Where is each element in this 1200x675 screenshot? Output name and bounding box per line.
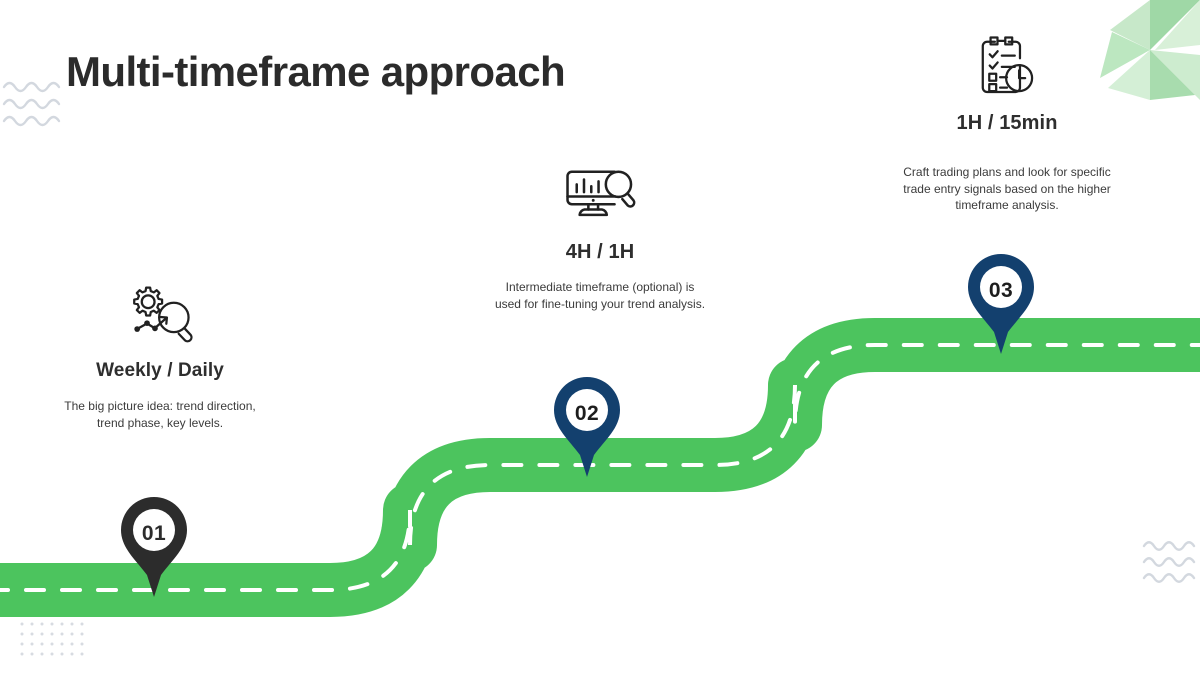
map-pin-03[interactable]: 03 bbox=[957, 251, 1045, 357]
wavy-lines-bottom-right-decor-icon bbox=[1142, 538, 1200, 586]
map-pin-icon bbox=[110, 494, 198, 600]
gear-magnifier-analytics-icon bbox=[120, 282, 200, 346]
map-pin-01[interactable]: 01 bbox=[110, 494, 198, 600]
clipboard-checklist-clock-icon bbox=[971, 34, 1043, 98]
map-pin-icon bbox=[957, 251, 1045, 357]
monitor-bar-chart-magnifier-icon bbox=[560, 163, 640, 227]
dot-grid-decor-icon bbox=[20, 622, 90, 658]
step-title-03: 1H / 15min bbox=[902, 112, 1112, 135]
step-description-01: The big picture idea: trend direction, t… bbox=[64, 398, 256, 431]
step-block-03: 1H / 15min Craft trading plans and look … bbox=[902, 34, 1112, 214]
step-description-02: Intermediate timeframe (optional) is use… bbox=[492, 279, 708, 312]
map-pin-number-03: 03 bbox=[957, 279, 1045, 303]
page-title: Multi-timeframe approach bbox=[66, 48, 565, 96]
step-block-01: Weekly / Daily The big picture idea: tre… bbox=[64, 282, 256, 431]
step-title-02: 4H / 1H bbox=[492, 241, 708, 264]
wavy-lines-top-left-decor-icon bbox=[2, 78, 64, 130]
step-title-01: Weekly / Daily bbox=[64, 360, 256, 382]
triangle-pinwheel-decor-icon bbox=[1100, 0, 1200, 100]
step-description-03: Craft trading plans and look for specifi… bbox=[902, 164, 1112, 214]
map-pin-icon bbox=[543, 374, 631, 480]
map-pin-number-02: 02 bbox=[543, 402, 631, 426]
map-pin-number-01: 01 bbox=[110, 522, 198, 546]
step-block-02: 4H / 1H Intermediate timeframe (optional… bbox=[492, 163, 708, 312]
slide-canvas: Multi-timeframe approach Weekly / Daily … bbox=[0, 0, 1200, 675]
map-pin-02[interactable]: 02 bbox=[543, 374, 631, 480]
